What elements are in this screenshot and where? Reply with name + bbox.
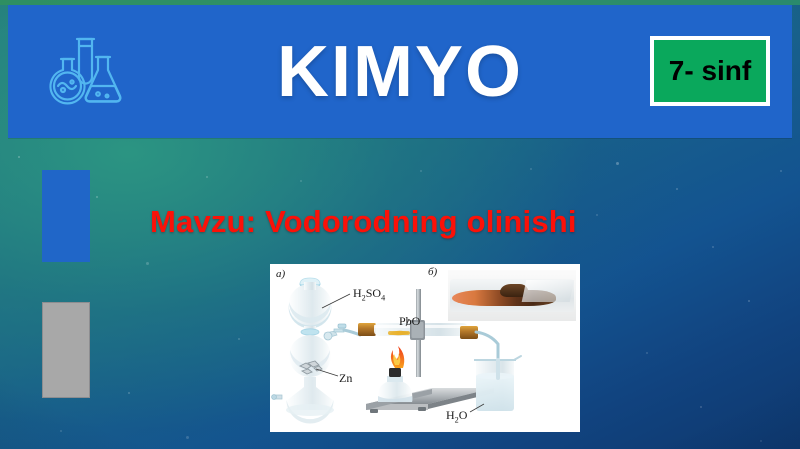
figure-label-a: a) bbox=[276, 268, 285, 280]
label-water: H2O bbox=[446, 408, 467, 424]
decor-rect-gray bbox=[42, 302, 90, 398]
figure-label-b: б) bbox=[428, 266, 437, 278]
photo-glass-highlight bbox=[522, 280, 575, 302]
grade-badge: 7- sinf bbox=[650, 36, 770, 106]
label-lead-oxide: PbO bbox=[399, 314, 420, 329]
decor-rect-blue bbox=[42, 170, 90, 262]
grade-badge-label: 7- sinf bbox=[669, 55, 751, 87]
slide-root: KIMYO 7- sinf Mavzu: Vodorodning olinish… bbox=[0, 0, 800, 449]
label-zinc: Zn bbox=[339, 371, 352, 386]
header-bar: KIMYO 7- sinf bbox=[8, 5, 792, 138]
copper-photo-inset bbox=[448, 270, 576, 321]
topic-title: Mavzu: Vodorodning olinishi bbox=[150, 204, 710, 244]
label-sulfuric-acid: H2SO4 bbox=[353, 286, 385, 302]
figure-panel: a) б) H2SO4 PbO Zn H2O bbox=[270, 264, 580, 432]
